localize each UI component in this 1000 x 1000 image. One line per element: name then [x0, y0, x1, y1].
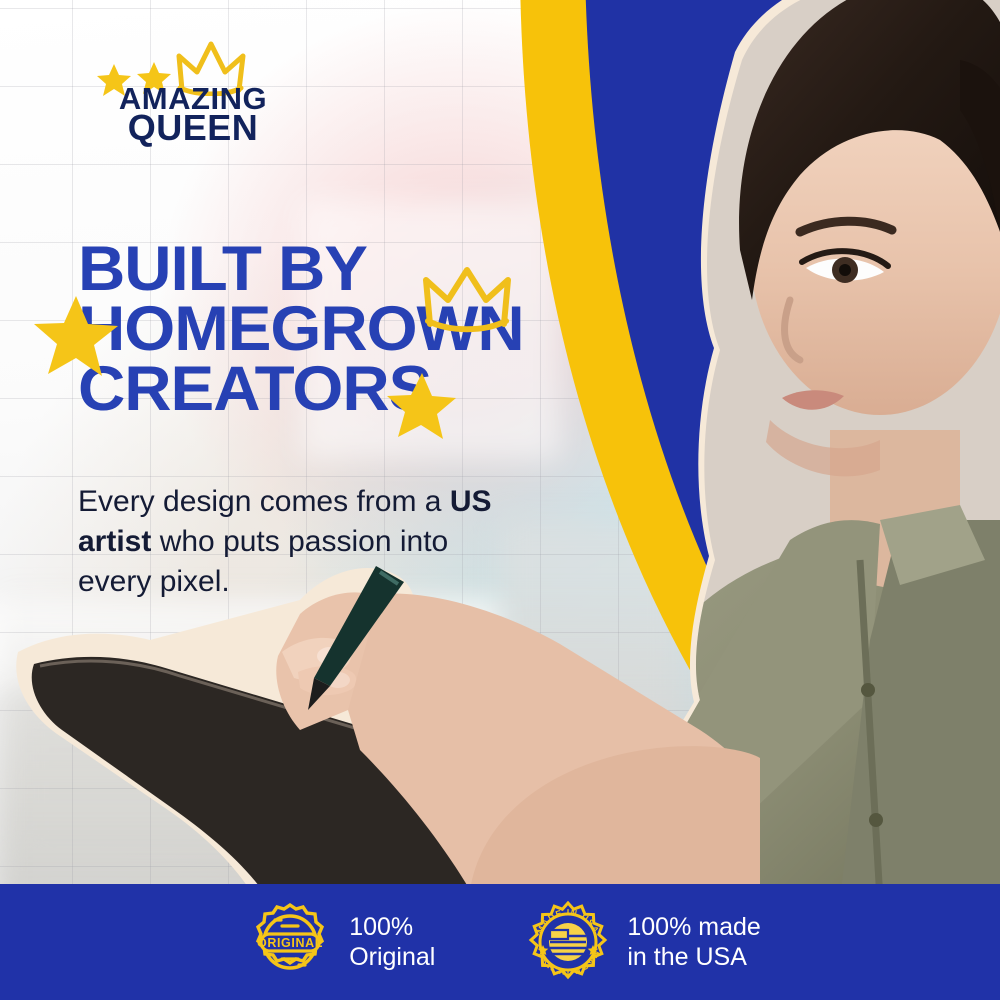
- star-icon: [386, 370, 456, 440]
- footer-bar: ORIGINAL 100% Original: [0, 884, 1000, 1000]
- badge-original: ORIGINAL 100% Original: [249, 901, 435, 983]
- hand-tablet-cutout: [0, 560, 760, 890]
- logo-text: AMAZING QUEEN: [78, 84, 308, 145]
- headline-line-3: CREATORS: [78, 360, 567, 420]
- badge-original-label: 100% Original: [349, 912, 435, 973]
- logo-line-2: QUEEN: [78, 111, 308, 146]
- body-copy-before: Every design comes from a: [78, 485, 450, 518]
- made-in-usa-seal-icon: MADE IN USA MADE IN USA: [527, 901, 609, 983]
- brand-logo: AMAZING QUEEN: [78, 40, 308, 150]
- badge-made-in-usa: MADE IN USA MADE IN USA 100% made in the…: [527, 901, 760, 983]
- original-seal-icon: ORIGINAL: [249, 901, 331, 983]
- crown-icon: [418, 266, 516, 338]
- badge-made-in-usa-label: 100% made in the USA: [627, 912, 760, 973]
- body-copy: Every design comes from a US artist who …: [78, 482, 508, 602]
- seal-label: ORIGINAL: [257, 936, 323, 950]
- advertisement-banner: AMAZING QUEEN BUILT BY HOMEGROWN CREATOR…: [0, 0, 1000, 1000]
- star-icon: [32, 292, 118, 378]
